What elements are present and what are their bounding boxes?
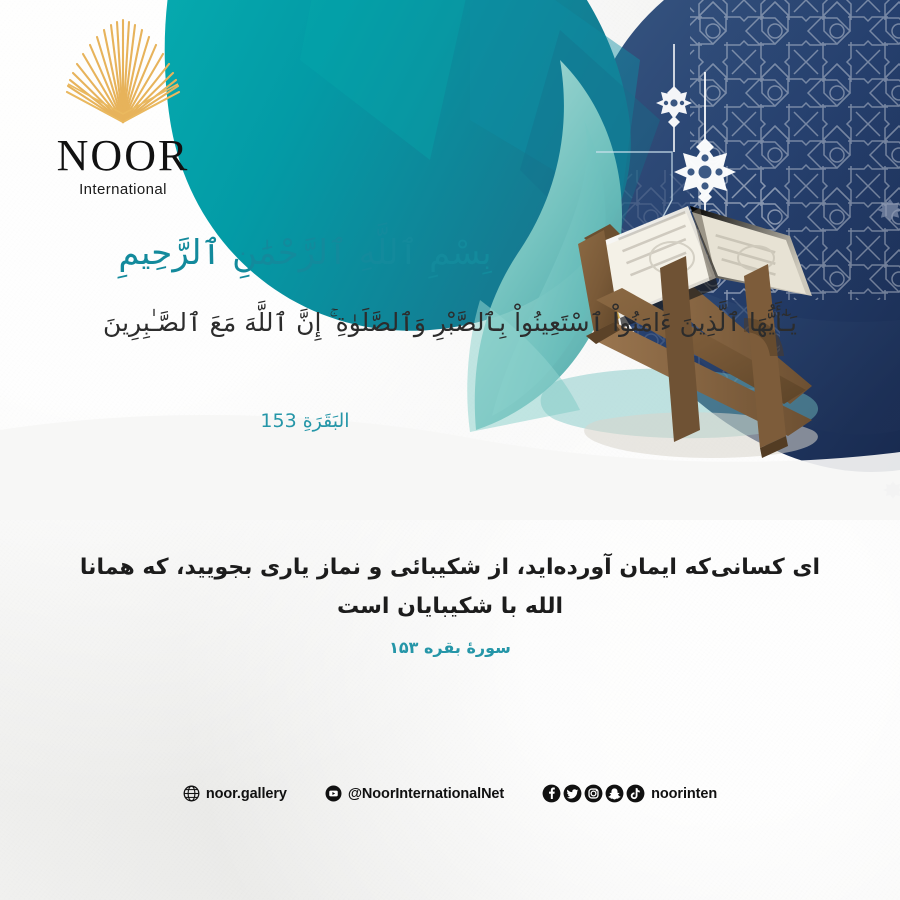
basmala-block: بِسْمِ ٱللَّهِ ٱلرَّحْمَٰنِ ٱلرَّحِيمِ bbox=[0, 232, 610, 275]
tiktok-icon[interactable] bbox=[626, 784, 645, 803]
website-link[interactable]: noor.gallery bbox=[183, 785, 287, 802]
footer-bar: noor.gallery @NoorInternationalNet bbox=[0, 784, 900, 803]
brand-name: NOOR bbox=[38, 134, 208, 178]
youtube-icon bbox=[325, 785, 342, 802]
sunburst-icon bbox=[57, 18, 189, 130]
youtube-label: @NoorInternationalNet bbox=[348, 786, 504, 802]
translation-block: ای کسانی‌که ایمان آورده‌اید، از شکیبائی … bbox=[70, 548, 830, 657]
ayah-reference: البَقَرَةِ 153 bbox=[0, 410, 610, 432]
youtube-link[interactable]: @NoorInternationalNet bbox=[325, 785, 504, 802]
social-handle-label: noorinten bbox=[651, 786, 717, 802]
poster-canvas: NOOR International بِسْمِ ٱللَّهِ ٱلرَّح… bbox=[0, 0, 900, 900]
instagram-icon[interactable] bbox=[584, 784, 603, 803]
basmala-text: بِسْمِ ٱللَّهِ ٱلرَّحْمَٰنِ ٱلرَّحِيمِ bbox=[0, 232, 610, 275]
brand-logo: NOOR International bbox=[38, 18, 208, 198]
globe-icon bbox=[183, 785, 200, 802]
social-links[interactable]: noorinten bbox=[542, 784, 717, 803]
persian-reference: سورهٔ بقره ۱۵۳ bbox=[70, 638, 830, 657]
social-icon-row bbox=[542, 784, 645, 803]
persian-translation: ای کسانی‌که ایمان آورده‌اید، از شکیبائی … bbox=[70, 548, 830, 626]
twitter-icon[interactable] bbox=[563, 784, 582, 803]
ayah-text: يَـٰٓأَيُّهَا ٱلَّذِينَ ءَامَنُواْ ٱسْتَ… bbox=[0, 300, 900, 346]
brand-tagline: International bbox=[38, 181, 208, 198]
website-label: noor.gallery bbox=[206, 786, 287, 802]
facebook-icon[interactable] bbox=[542, 784, 561, 803]
snapchat-icon[interactable] bbox=[605, 784, 624, 803]
